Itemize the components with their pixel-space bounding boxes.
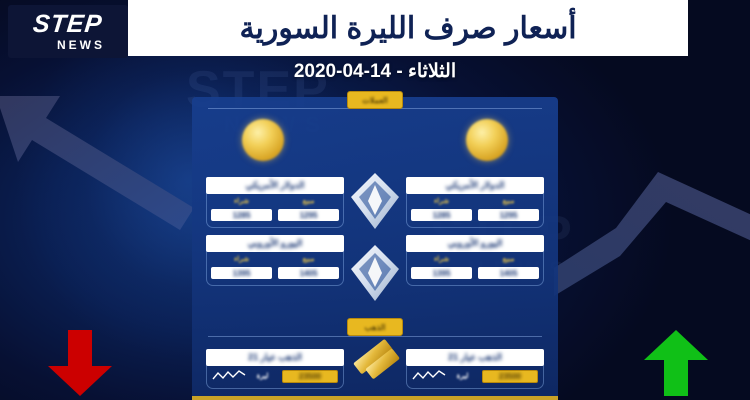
row-currency-1: الدولار الأمريكي شراء 1285 مبيع 1295 xyxy=(192,115,558,225)
currency-cell-sell-value-box: 1295 xyxy=(278,209,339,221)
currency-card-left-1[interactable]: الدولار الأمريكي شراء 1285 مبيع 1295 xyxy=(206,177,344,228)
currency-cell-buy-label: شراء xyxy=(211,198,272,206)
gold-price-box: 23500 xyxy=(282,370,338,383)
currency-cell-sell-value-box: 1405 xyxy=(478,267,539,279)
gold-name: الذهب عيار 21 xyxy=(248,352,302,363)
currency-cell-buy-value: 1395 xyxy=(433,269,451,278)
title-bar: أسعار صرف الليرة السورية xyxy=(128,0,688,56)
gold-unit: ليرة xyxy=(257,372,269,380)
gold-bars-icon xyxy=(347,333,403,385)
currency-name-bar: اليورو الأوروبي xyxy=(206,235,344,252)
section-badge-gold: الذهب xyxy=(347,318,403,336)
gold-price: 23500 xyxy=(299,372,321,381)
currency-name: الدولار الأمريكي xyxy=(446,180,505,191)
silver-diamond-badge-icon-2 xyxy=(349,243,401,305)
rates-panel: العملات الدولار الأمريكي xyxy=(192,97,558,400)
logo-news-text: NEWS xyxy=(57,39,105,51)
gold-name-bar: الذهب عيار 21 xyxy=(406,349,544,366)
currency-cell-buy: شراء 1285 xyxy=(211,198,272,221)
panel-footer-bar xyxy=(192,396,558,400)
currency-name-bar: الدولار الأمريكي xyxy=(206,177,344,194)
currency-name-bar: الدولار الأمريكي xyxy=(406,177,544,194)
currency-cell-sell-value-box: 1295 xyxy=(478,209,539,221)
gold-unit: ليرة xyxy=(457,372,469,380)
currency-cell-sell: مبيع 1295 xyxy=(278,198,339,221)
currency-cell-buy-label: شراء xyxy=(211,256,272,264)
gold-coin-icon-right xyxy=(466,119,508,161)
currency-card-body: شراء 1285 مبيع 1295 xyxy=(206,193,344,228)
currency-cell-sell-label: مبيع xyxy=(278,198,339,206)
date-line: الثلاثاء - 14-04-2020 xyxy=(0,60,750,83)
currency-name-bar: اليورو الأوروبي xyxy=(406,235,544,252)
gold-card-left[interactable]: الذهب عيار 21 ليرة 23500 xyxy=(206,349,344,389)
currency-cell-sell-value: 1405 xyxy=(500,269,518,278)
currency-cell-sell-value: 1405 xyxy=(300,269,318,278)
arrow-up-green-icon xyxy=(638,328,714,398)
page-title: أسعار صرف الليرة السورية xyxy=(239,11,576,46)
logo-step-text: STEP xyxy=(32,12,104,37)
currency-card-right-1[interactable]: الدولار الأمريكي شراء 1285 مبيع 1295 xyxy=(406,177,544,228)
gold-name: الذهب عيار 21 xyxy=(448,352,502,363)
currency-cell-buy-value-box: 1285 xyxy=(211,209,272,221)
silver-diamond-badge-icon xyxy=(349,171,401,233)
currency-name: اليورو الأوروبي xyxy=(248,238,302,249)
currency-cell-sell-label: مبيع xyxy=(478,198,539,206)
arrow-down-red-icon xyxy=(42,328,118,398)
currency-name: اليورو الأوروبي xyxy=(448,238,502,249)
gold-coin-icon-left xyxy=(242,119,284,161)
step-news-logo: STEP NEWS xyxy=(8,5,128,58)
currency-card-left-2[interactable]: اليورو الأوروبي شراء 1395 مبيع 1405 xyxy=(206,235,344,286)
currency-cell-buy: شراء 1285 xyxy=(411,198,472,221)
gold-name-bar: الذهب عيار 21 xyxy=(206,349,344,366)
currency-cell-buy-value-box: 1285 xyxy=(411,209,472,221)
currency-cell-buy-value-box: 1395 xyxy=(411,267,472,279)
currency-cell-sell-value: 1295 xyxy=(300,211,318,220)
currency-cell-buy: شراء 1395 xyxy=(411,256,472,279)
row-gold: الذهب عيار 21 ليرة 23500 الذهب عيار 21 xyxy=(192,345,558,400)
currency-cell-buy-value: 1285 xyxy=(233,211,251,220)
currency-cell-buy-value-box: 1395 xyxy=(211,267,272,279)
section-badge-currencies: العملات xyxy=(347,91,403,109)
gold-price-box: 23500 xyxy=(482,370,538,383)
currency-card-body: شراء 1395 مبيع 1405 xyxy=(206,251,344,286)
currency-cell-sell: مبيع 1405 xyxy=(478,256,539,279)
gold-card-body: ليرة 23500 xyxy=(406,365,544,389)
currency-cell-sell: مبيع 1295 xyxy=(478,198,539,221)
currency-cell-sell: مبيع 1405 xyxy=(278,256,339,279)
currency-cell-buy-label: شراء xyxy=(411,256,472,264)
currency-cell-buy-value: 1395 xyxy=(233,269,251,278)
section-badge-currencies-label: العملات xyxy=(362,96,387,105)
section-badge-gold-label: الذهب xyxy=(365,323,386,332)
currency-cell-sell-value-box: 1405 xyxy=(278,267,339,279)
sparkline-icon xyxy=(412,369,446,383)
sparkline-icon xyxy=(212,369,246,383)
row-currency-2: اليورو الأوروبي شراء 1395 مبيع 1405 xyxy=(192,229,558,321)
currency-card-body: شراء 1395 مبيع 1405 xyxy=(406,251,544,286)
currency-cell-sell-label: مبيع xyxy=(478,256,539,264)
currency-card-body: شراء 1285 مبيع 1295 xyxy=(406,193,544,228)
gold-card-right[interactable]: الذهب عيار 21 ليرة 23500 xyxy=(406,349,544,389)
currency-cell-sell-value: 1295 xyxy=(500,211,518,220)
currency-cell-sell-label: مبيع xyxy=(278,256,339,264)
currency-name: الدولار الأمريكي xyxy=(246,180,305,191)
gold-card-body: ليرة 23500 xyxy=(206,365,344,389)
currency-cell-buy-value: 1285 xyxy=(433,211,451,220)
gold-price: 23500 xyxy=(499,372,521,381)
currency-card-right-2[interactable]: اليورو الأوروبي شراء 1395 مبيع 1405 xyxy=(406,235,544,286)
currency-cell-buy-label: شراء xyxy=(411,198,472,206)
currency-cell-buy: شراء 1395 xyxy=(211,256,272,279)
